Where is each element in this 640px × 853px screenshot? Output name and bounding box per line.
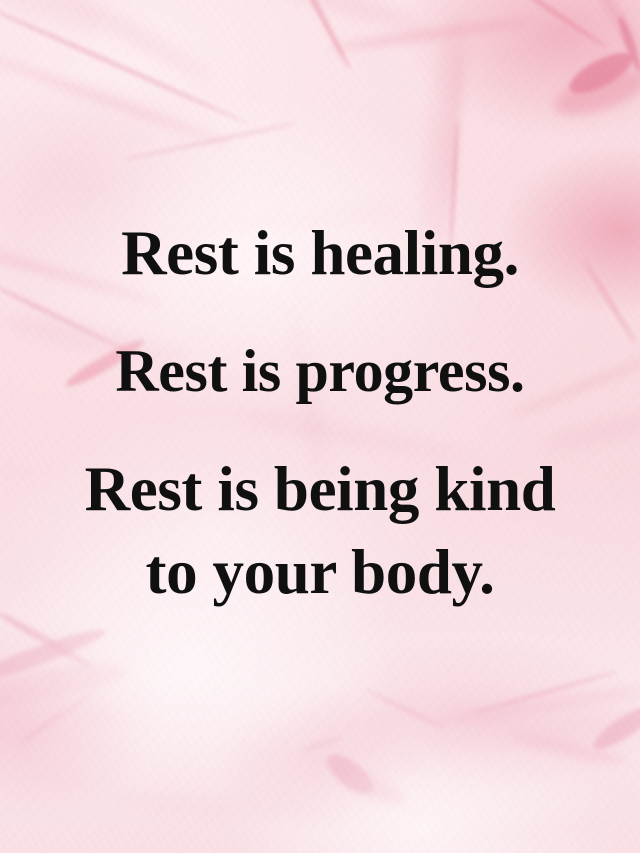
marble-vein [321,747,380,800]
quote-line-4: to your body. [0,531,640,614]
marble-vein [363,687,447,732]
marble-vein [0,656,131,719]
marble-vein [588,700,640,756]
marble-vein [508,730,628,769]
marble-vein [549,62,640,124]
marble-vein [300,733,344,754]
marble-vein [0,0,110,39]
quote-line-3: Rest is being kind [0,448,640,531]
quote-line-1: Rest is healing. [0,212,640,295]
marble-vein [232,0,427,37]
marble-vein [120,792,341,823]
marble-vein [0,623,109,691]
marble-vein [566,0,640,55]
marble-vein [0,691,122,754]
marble-vein [0,609,95,671]
marble-vein [16,691,94,746]
marble-vein [292,0,353,71]
marble-vein [472,669,618,715]
marble-vein [330,16,529,53]
marble-vein [482,0,609,50]
marble-vein [22,0,219,86]
marble-vein [0,50,233,149]
marble-vein [0,0,248,125]
quote-text-block: Rest is healing. Rest is progress. Rest … [0,212,640,614]
marble-vein [419,706,640,757]
marble-vein [616,15,640,74]
quote-line-2: Rest is progress. [0,330,640,412]
marble-vein [335,765,409,811]
marble-vein [414,9,472,240]
marble-vein [420,817,620,845]
marble-vein [122,121,299,161]
marble-vein [564,45,638,101]
marble-vein [430,683,640,729]
quote-poster: Rest is healing. Rest is progress. Rest … [0,0,640,853]
